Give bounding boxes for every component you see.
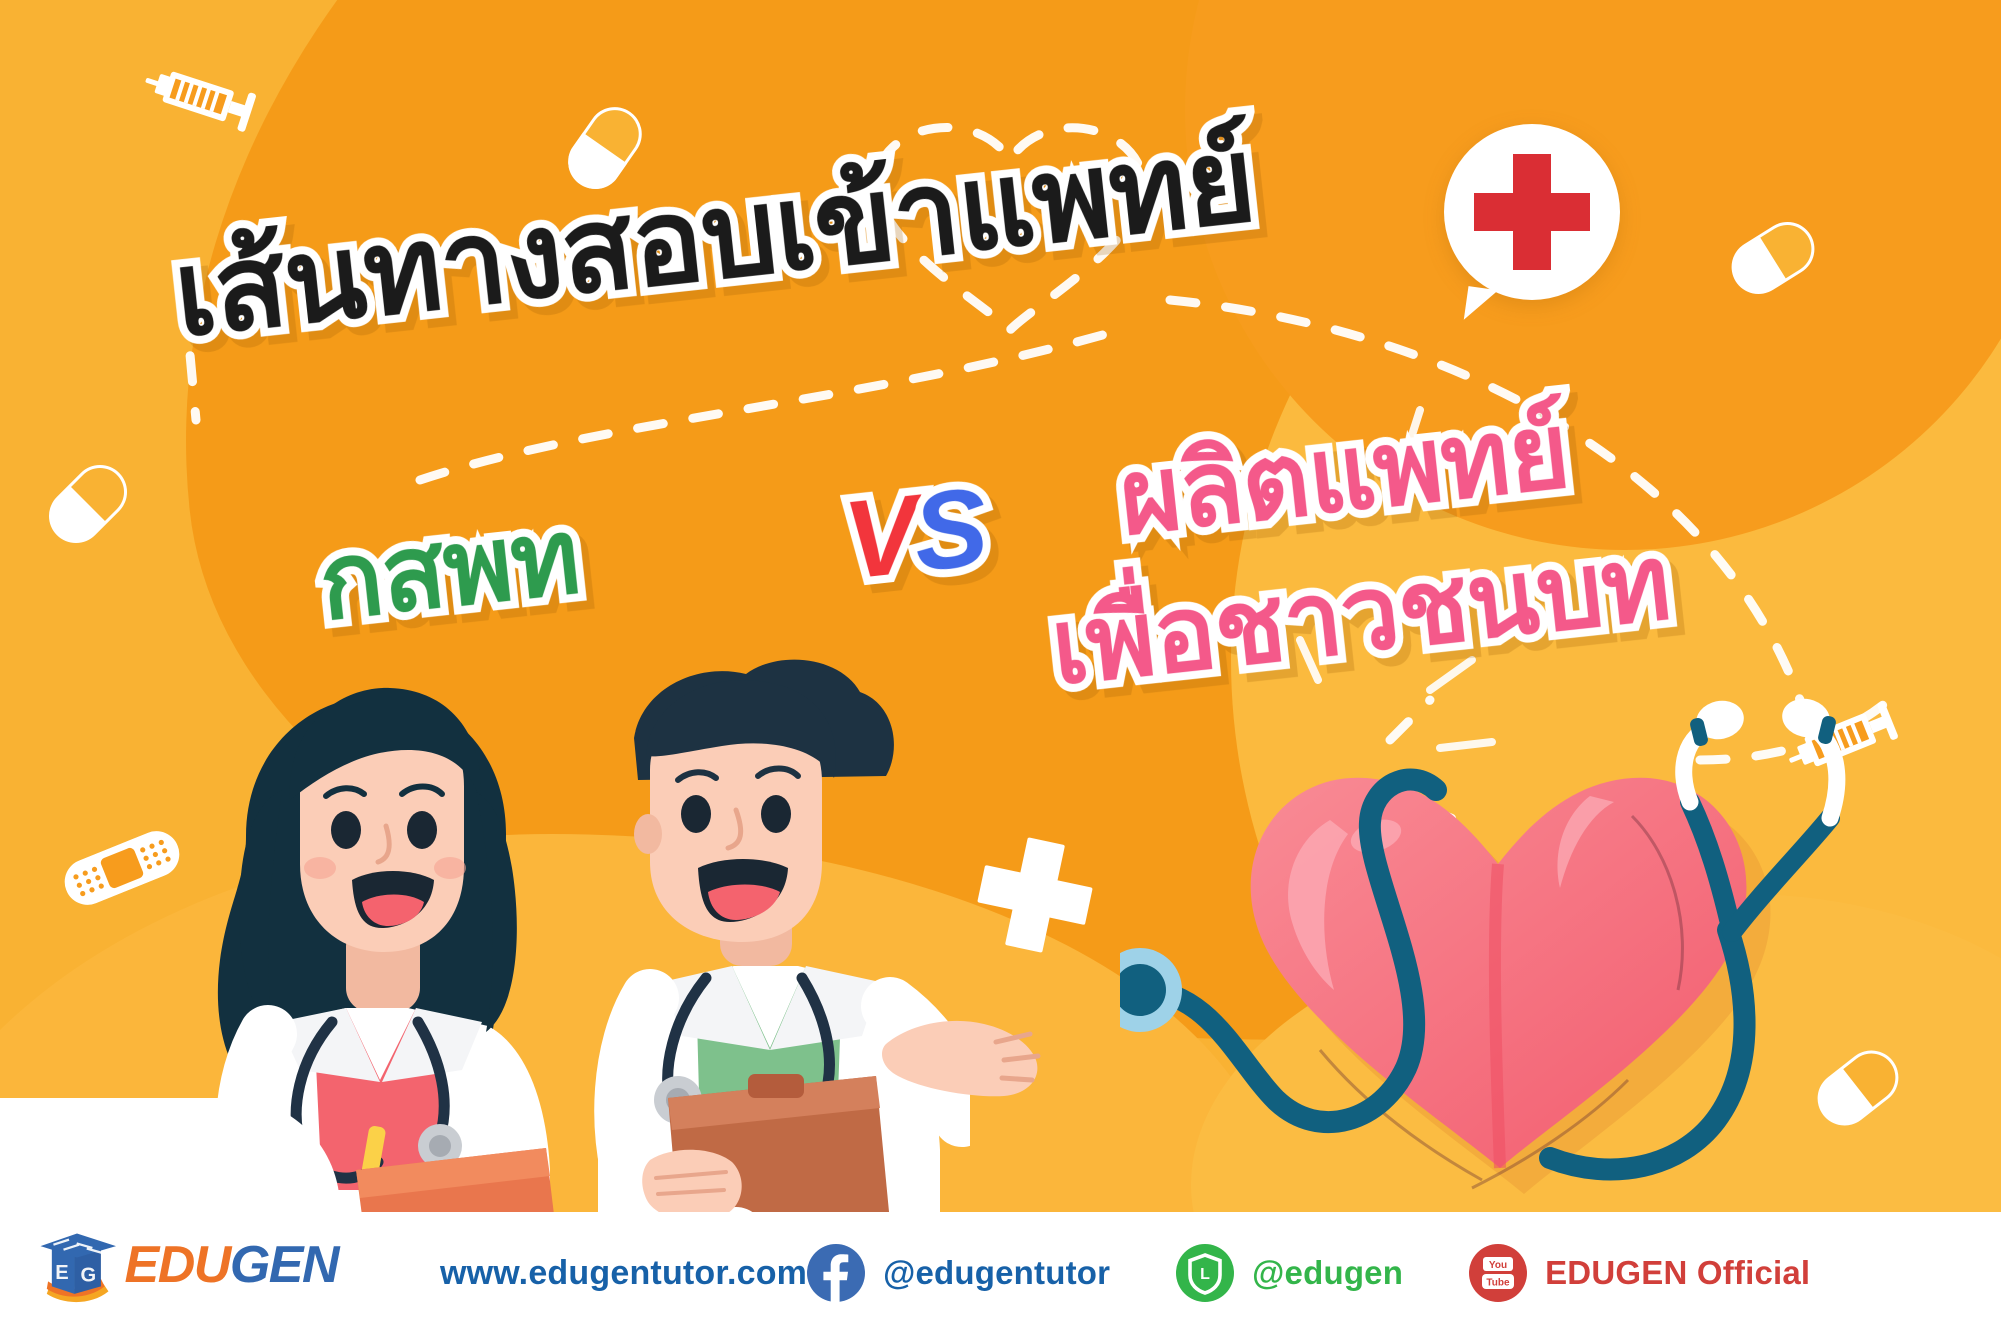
svg-text:L: L [1200,1266,1210,1283]
footer-bar: www.edugentutor.com @edugentutor L @edug… [0,1212,2001,1334]
social-youtube[interactable]: You Tube EDUGEN Official [1469,1244,1810,1302]
male-eye-right [761,795,791,833]
facebook-handle[interactable]: @edugentutor [883,1254,1110,1292]
brand-word-edu: EDU [125,1236,230,1294]
male-eye-left [681,795,711,833]
social-facebook[interactable]: @edugentutor [807,1244,1110,1302]
line-icon[interactable]: L [1176,1244,1234,1302]
youtube-icon[interactable]: You Tube [1469,1244,1527,1302]
svg-text:Tube: Tube [1487,1278,1511,1289]
svg-text:G: G [80,1264,96,1286]
poster-canvas: เส้นทางสอบเข้าแพทย์ กสพท VS ผลิตแพทย์ เพ… [0,0,2001,1334]
edugen-cap-icon: E G [38,1207,119,1323]
brand-logo[interactable]: E G EDUGEN [38,1204,338,1326]
svg-text:You: You [1489,1260,1507,1271]
line-handle[interactable]: @edugen [1252,1254,1403,1292]
website-link[interactable]: www.edugentutor.com [440,1254,807,1293]
male-hand [642,1150,742,1221]
female-eye-right [407,811,437,849]
plus-icon [970,830,1100,960]
brand-wordmark: EDUGEN [125,1239,338,1291]
vs-badge: VS [838,463,990,604]
red-cross-icon [1444,124,1620,300]
svg-text:E: E [55,1262,68,1284]
brand-word-gen: GEN [230,1236,338,1294]
waving-hand-illustration [880,990,1050,1120]
social-line[interactable]: L @edugen [1176,1244,1403,1302]
female-eye-left [331,811,361,849]
youtube-handle[interactable]: EDUGEN Official [1545,1254,1810,1292]
facebook-icon[interactable] [807,1244,865,1302]
medical-cross-speech-bubble [1444,124,1620,300]
vs-letter-s: S [907,465,989,595]
heart-with-stethoscope [1120,690,1880,1210]
male-doctor-illustration [598,660,962,1250]
